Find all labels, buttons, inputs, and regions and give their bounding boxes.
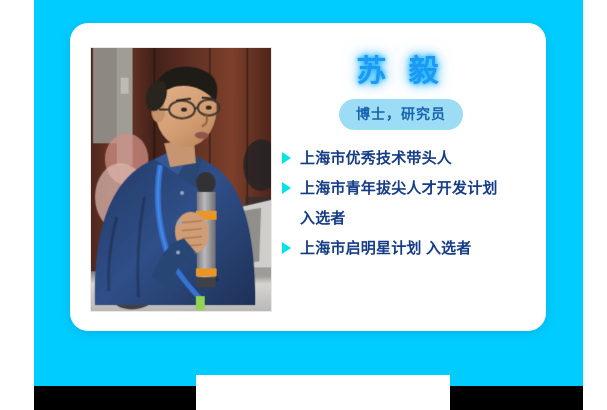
list-item: 上海市优秀技术带头人 [282,146,534,172]
name-heading-wrap: 苏 毅 [282,47,534,97]
credential-text: 上海市启明星计划 入选者 [300,236,472,262]
triangle-bullet-icon [282,242,291,254]
credential-text: 入选者 [300,206,346,232]
profile-details: 苏 毅 博士，研究员 上海市优秀技术带头人 上海市青年拔尖人才开发计划 入选者 [282,47,534,312]
slide-stage: 苏 毅 博士，研究员 上海市优秀技术带头人 上海市青年拔尖人才开发计划 入选者 [0,0,607,410]
list-item: 上海市启明星计划 入选者 [282,236,534,262]
list-item: 上海市青年拔尖人才开发计划 [282,176,534,202]
portrait-photo-canvas [91,48,271,311]
triangle-bullet-icon [282,182,291,194]
triangle-bullet-icon [282,152,291,164]
list-item: 入选者 [282,206,534,232]
title-badge-wrap: 博士，研究员 [282,99,534,130]
credential-text: 上海市青年拔尖人才开发计划 [300,176,498,202]
credentials-list: 上海市优秀技术带头人 上海市青年拔尖人才开发计划 入选者 上海市启明星计划 入选… [282,146,534,262]
bottom-white-plinth [196,375,450,410]
title-badge: 博士，研究员 [339,99,463,130]
profile-card: 苏 毅 博士，研究员 上海市优秀技术带头人 上海市青年拔尖人才开发计划 入选者 [70,23,546,331]
portrait-photo [90,47,272,312]
person-name: 苏 毅 [356,57,445,87]
credential-text: 上海市优秀技术带头人 [300,146,452,172]
